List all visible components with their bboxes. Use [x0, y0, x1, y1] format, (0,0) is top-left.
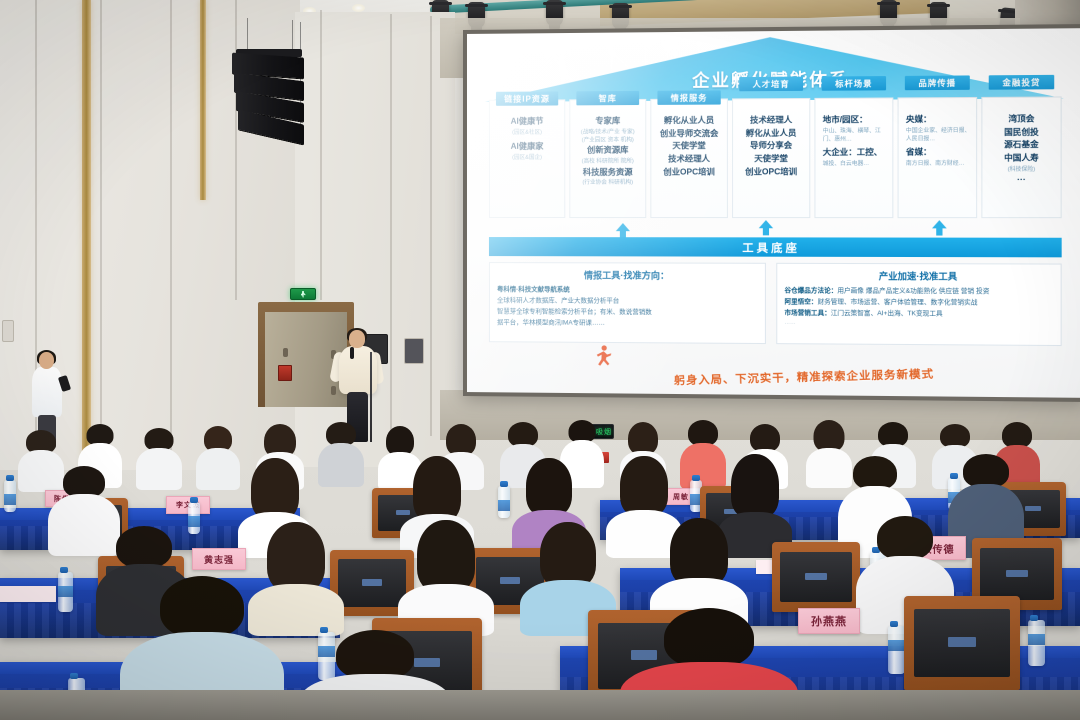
column-sub: (园区&国企)	[493, 153, 561, 162]
column-line: 创新资源库	[573, 145, 642, 158]
pillar-columns: 链接IP资源 AI健康节 (园区&社区) AI健康家 (园区&国企)	[489, 96, 1062, 218]
column-header: 智库	[576, 91, 639, 105]
column-line: 创业OPC培训	[654, 166, 723, 179]
tool-card-row: 据平台，华林模型商汛IMA专研课……	[497, 318, 758, 330]
attendee	[196, 426, 240, 488]
tool-card-strong: 市场营销工具：	[784, 309, 830, 316]
column-line: 孵化从业人员	[654, 115, 723, 128]
column-sub: (科技保险)	[986, 165, 1058, 174]
up-arrow-stem	[763, 228, 769, 235]
wall-panel-line	[430, 16, 432, 436]
attendee	[318, 422, 364, 486]
tool-card-intelligence: 情报工具·找准方向： 粤科情·科技文献导航系统 全球科研人才数据库、产业大数据分…	[489, 262, 766, 344]
water-bottle	[888, 626, 905, 674]
column-line: 孵化从业人员	[736, 127, 806, 140]
column-line: 天使学堂	[654, 140, 723, 153]
column-line: 源石基金	[986, 139, 1058, 152]
name-placard: 黄志强	[192, 548, 246, 570]
up-arrow-stem	[936, 228, 942, 235]
floor	[0, 690, 1080, 720]
running-person-icon	[595, 345, 613, 369]
up-arrow-icon	[759, 220, 773, 228]
chair	[772, 542, 860, 612]
wall-mounted-speaker	[404, 338, 424, 364]
projection-screen: 企业孵化赋能体系 链接IP资源 AI健康节 (园区&社区) AI健康家 (园区&…	[467, 28, 1080, 398]
tool-card-row: 用户画像 爆品产品定义&功能熟化 供应链 营销 投资	[837, 287, 989, 295]
wall-plate	[2, 320, 14, 342]
column-sub: 中国企业家、经济日报、人民日报…	[906, 126, 973, 143]
wall-panel-line	[170, 0, 172, 450]
tool-card-row: ……	[784, 319, 1053, 327]
column-sub: 中山、珠海、横琴、江门、惠州…	[823, 127, 889, 144]
column-header: 品牌传播	[905, 75, 970, 90]
column-line: 导师分享会	[736, 140, 806, 153]
column-header: 金融投贷	[989, 75, 1055, 90]
column-sub: 城投、白云电器…	[823, 160, 889, 169]
column-line: ···	[986, 174, 1058, 187]
column-sub: (高校 科研院所 院所)	[573, 158, 642, 167]
wall-panel-line	[235, 0, 237, 300]
up-arrow-icon	[616, 223, 630, 231]
column-sub: (园区&社区)	[493, 128, 561, 137]
water-bottle	[4, 480, 16, 512]
base-bar: 工具底座	[489, 237, 1062, 257]
downlight	[352, 4, 365, 12]
wall-gold-strip	[200, 0, 206, 200]
attendee	[136, 428, 182, 488]
pillar-column-5: 品牌传播 央媒： 中国企业家、经济日报、人民日报… 省媒： 南方日报、南方财经…	[898, 97, 978, 218]
fire-extinguisher-cabinet	[278, 365, 292, 381]
column-line: 创业导师交流会	[654, 128, 723, 141]
column-line: 科技服务资源	[573, 166, 642, 179]
column-line: 中国人寿	[986, 152, 1058, 165]
tool-card-title: 产业加速·找准工具	[784, 269, 1053, 283]
tool-cards: 情报工具·找准方向： 粤科情·科技文献导航系统 全球科研人才数据库、产业大数据分…	[489, 262, 1062, 346]
pillar-column-4: 标杆场景 地市/园区： 中山、珠海、横琴、江门、惠州… 大企业：工控、 城投、白…	[814, 97, 893, 218]
audience-area: 陈俊坚 李文杰 周敏	[0, 430, 1080, 720]
tool-card-row: 财务管理、市场运营、客户体验管理、数字化营销实战	[817, 298, 977, 306]
tool-card-strong: 谷仓爆品方法论：	[784, 287, 837, 294]
attendee	[398, 520, 494, 632]
column-line: 技术经理人	[654, 153, 723, 166]
tool-card-title: 情报工具·找准方向：	[497, 268, 758, 282]
column-line: 天使学堂	[736, 153, 806, 166]
column-sub: (产业园区 资本 机构)	[573, 136, 642, 145]
slide-tagline: 躬身入局、下沉实干，精准探索企业服务新模式	[674, 362, 1059, 388]
up-arrow-icon	[932, 220, 947, 228]
column-line: 大企业：工控、	[823, 147, 889, 160]
microphone-stand	[370, 352, 372, 442]
column-line: 专家库	[573, 115, 642, 128]
pillar-column-0: 链接IP资源 AI健康节 (园区&社区) AI健康家 (园区&国企)	[489, 99, 565, 218]
pillar-column-6: 金融投贷 湾顶会 国民创投 源石基金 中国人寿 (科技保险) ···	[981, 96, 1061, 218]
name-placard: 孙燕燕	[798, 608, 860, 634]
column-line: 央媒：	[906, 113, 973, 126]
tool-card-strong: 阿里悟空：	[784, 298, 817, 305]
tool-card-strong: 粤科情·科技文献导航系统	[497, 286, 570, 293]
wall-panel-line	[390, 14, 392, 444]
column-line: 技术经理人	[736, 114, 806, 127]
pillar-column-2: 情报服务 孵化从业人员 创业导师交流会 天使学堂 技术经理人 创业OPC培训	[650, 98, 728, 218]
chair	[904, 596, 1020, 690]
water-bottle	[498, 486, 510, 518]
projection-screen-frame: 企业孵化赋能体系 链接IP资源 AI健康节 (园区&社区) AI健康家 (园区&…	[463, 24, 1080, 402]
line-array-speaker	[232, 55, 310, 140]
column-line: 国民创投	[986, 126, 1058, 139]
column-line: AI健康家	[493, 141, 561, 154]
column-line: 创业OPC培训	[736, 166, 806, 179]
column-header: 标杆场景	[822, 76, 886, 91]
pillar-column-3: 人才培育 技术经理人 孵化从业人员 导师分享会 天使学堂 创业OPC培训	[732, 98, 810, 218]
column-line: 省媒：	[906, 147, 973, 160]
presentation-slide: 企业孵化赋能体系 链接IP资源 AI健康节 (园区&社区) AI健康家 (园区&…	[467, 28, 1080, 398]
tool-card-row: 江门云策智富、AI+出海、TK变现工具	[831, 310, 943, 318]
pillar-column-1: 智库 专家库 (战略/技术/产业 专家) (产业园区 资本 机构) 创新资源库 …	[569, 99, 646, 218]
column-line: 湾顶会	[986, 113, 1058, 126]
conference-photo: 企业孵化赋能体系 链接IP资源 AI健康节 (园区&社区) AI健康家 (园区&…	[0, 0, 1080, 720]
column-header: 人才培育	[739, 77, 803, 92]
exit-sign	[290, 288, 316, 300]
column-sub: 南方日报、南方财经…	[906, 160, 973, 169]
water-bottle	[1028, 620, 1045, 666]
wall-panel-line	[100, 0, 102, 460]
wall-panel-line	[320, 10, 322, 300]
water-bottle	[58, 572, 73, 612]
wall-gold-strip	[82, 0, 91, 470]
handout-paper	[0, 586, 56, 602]
tool-card-acceleration: 产业加速·找准工具 谷仓爆品方法论：用户画像 爆品产品定义&功能熟化 供应链 营…	[776, 263, 1061, 346]
column-sub: (战略/技术/产业 专家)	[573, 128, 642, 137]
column-sub: (行业协会 科研机构)	[573, 179, 642, 188]
column-header: 情报服务	[657, 90, 720, 105]
column-header: 链接IP资源	[496, 91, 558, 105]
column-line: 地市/园区：	[823, 114, 889, 127]
column-line: AI健康节	[493, 116, 561, 129]
